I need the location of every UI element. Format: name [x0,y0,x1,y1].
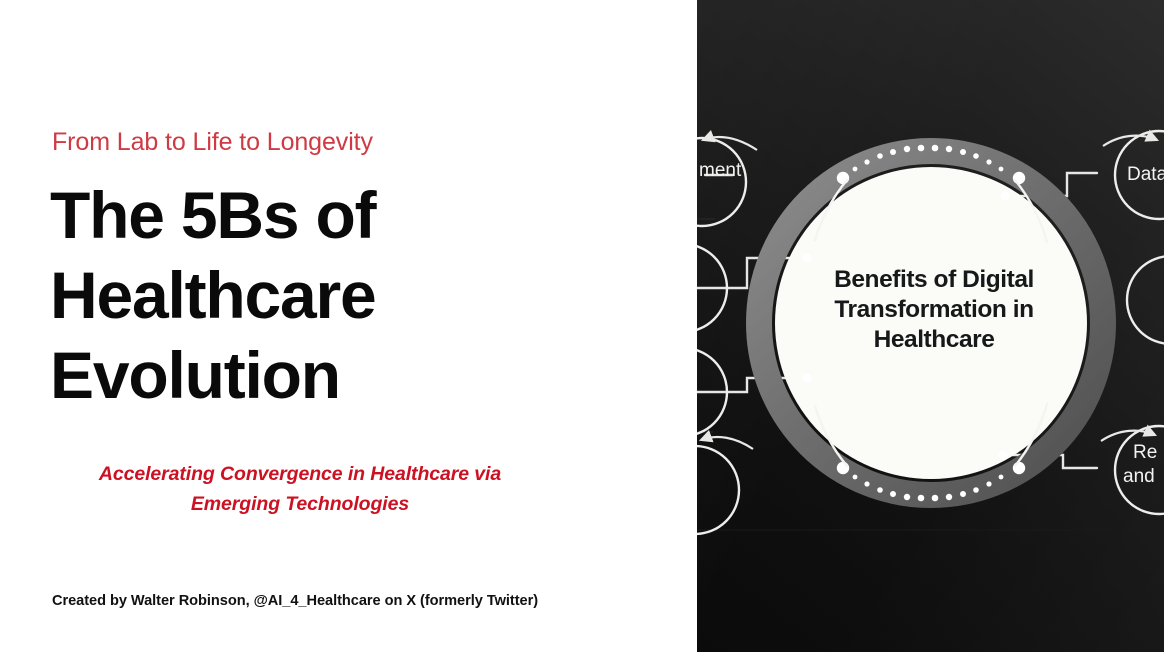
presentation-slide: From Lab to Life to Longevity The 5Bs of… [0,0,1164,652]
node-label-top-left-partial: ment [699,160,742,181]
title-text-column: From Lab to Life to Longevity The 5Bs of… [0,0,697,652]
diagram-center-label: Benefits of Digital Transformation in He… [809,265,1059,355]
page-title: The 5Bs of Healthcare Evolution [50,176,610,416]
diagram-image-panel: ment Data Re and Benefits of Digital Tra… [697,0,1164,652]
slide-eyebrow: From Lab to Life to Longevity [52,128,373,157]
node-label-bottom-right-line2: and [1123,466,1155,487]
node-label-top-right-partial: Data [1127,164,1164,185]
author-credit: Created by Walter Robinson, @AI_4_Health… [52,593,538,609]
node-label-bottom-right-line1: Re [1133,442,1157,463]
slide-subtitle: Accelerating Convergence in Healthcare v… [52,459,548,519]
